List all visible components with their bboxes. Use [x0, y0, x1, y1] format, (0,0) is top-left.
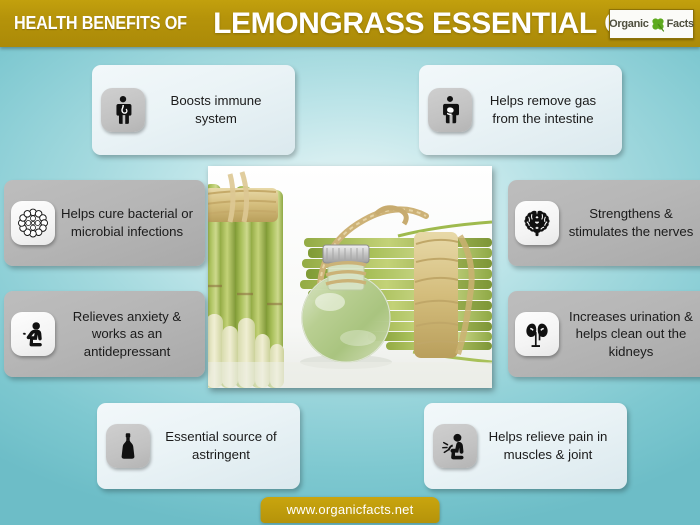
benefit-label: Boosts immune system [145, 92, 287, 127]
benefit-label: Helps relieve pain in muscles & joint [477, 428, 619, 463]
benefit-label: Essential source of astringent [150, 428, 292, 463]
benefit-card-pain[interactable]: Helps relieve pain in muscles & joint [424, 403, 627, 489]
benefit-label: Helps cure bacterial or microbial infect… [55, 205, 199, 240]
title-prefix: HEALTH BENEFITS OF [14, 13, 187, 34]
header-bar: HEALTH BENEFITS OF LEMONGRASS ESSENTIAL … [0, 0, 700, 47]
title-main: LEMONGRASS ESSENTIAL OIL [213, 7, 653, 41]
benefit-label: Strengthens & stimulates the nerves [559, 205, 700, 240]
organic-facts-logo[interactable]: Organic Facts [609, 9, 694, 39]
website-footer[interactable]: www.organicfacts.net [261, 497, 440, 523]
benefit-card-bacteria[interactable]: Helps cure bacterial or microbial infect… [4, 180, 205, 266]
benefit-card-gas[interactable]: Helps remove gas from the intestine [419, 65, 622, 155]
logo-word-facts: Facts [667, 18, 694, 30]
infographic-poster: HEALTH BENEFITS OF LEMONGRASS ESSENTIAL … [0, 0, 700, 525]
benefit-label: Increases urination & helps clean out th… [559, 308, 700, 361]
back-pain-icon [433, 424, 477, 468]
clover-icon [650, 16, 666, 32]
benefit-card-anxiety[interactable]: Relieves anxiety & works as an antidepre… [4, 291, 205, 377]
microbes-icon [11, 201, 55, 245]
benefit-card-immune[interactable]: Boosts immune system [92, 65, 295, 155]
brain-icon [515, 201, 559, 245]
page-title: HEALTH BENEFITS OF LEMONGRASS ESSENTIAL … [14, 0, 653, 47]
benefit-card-astringent[interactable]: Essential source of astringent [97, 403, 300, 489]
bottle-icon [106, 424, 150, 468]
torso-hand-icon [428, 88, 472, 132]
benefit-card-kidneys[interactable]: Increases urination & helps clean out th… [508, 291, 700, 377]
kidneys-icon [515, 312, 559, 356]
stomach-body-icon [101, 88, 145, 132]
benefit-label: Helps remove gas from the intestine [472, 92, 614, 127]
benefit-label: Relieves anxiety & works as an antidepre… [55, 308, 199, 361]
lemongrass-oil-photo [208, 166, 492, 388]
benefit-card-nerves[interactable]: Strengthens & stimulates the nerves [508, 180, 700, 266]
sitting-person-icon [11, 312, 55, 356]
logo-word-organic: Organic [609, 18, 648, 30]
